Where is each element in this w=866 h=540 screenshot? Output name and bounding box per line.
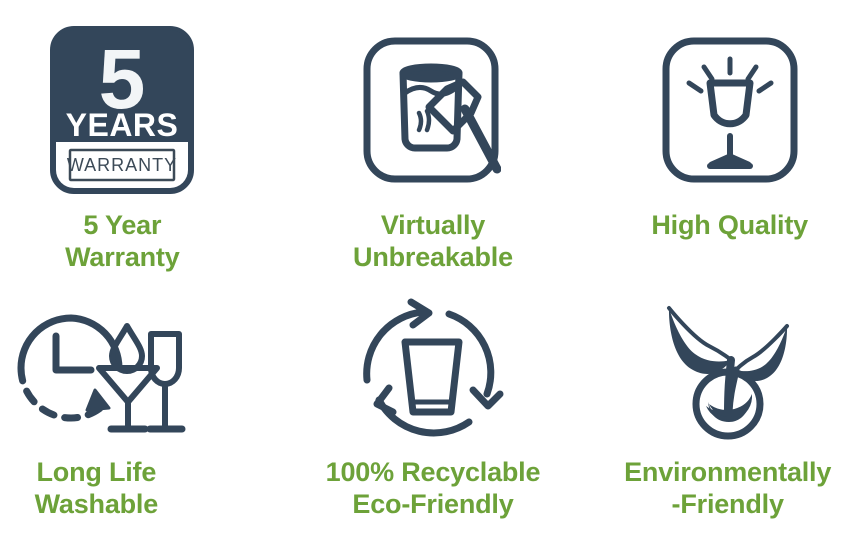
recycling-arrows-tumbler-icon: [357, 290, 507, 445]
feature-item-quality: High Quality: [577, 0, 866, 280]
feature-label-longlife: Long Life Washable: [35, 457, 158, 521]
feature-label-eco: Environmentally -Friendly: [624, 457, 831, 521]
five-year-warranty-badge-icon: 5 YEARS WARRANTY: [48, 20, 196, 200]
badge-years-text: YEARS: [66, 107, 179, 143]
feature-item-eco: Environmentally -Friendly: [577, 280, 866, 540]
feature-label-warranty: 5 Year Warranty: [65, 210, 179, 274]
clock-and-glassware-icon: [1, 290, 191, 445]
feature-item-warranty: 5 YEARS WARRANTY 5 Year Warranty: [0, 0, 289, 280]
feature-grid: 5 YEARS WARRANTY 5 Year Warranty: [0, 0, 866, 540]
feature-label-unbreakable: Virtually Unbreakable: [353, 210, 513, 274]
feature-item-recycle: 100% Recyclable Eco-Friendly: [289, 280, 578, 540]
badge-warranty-text: WARRANTY: [67, 155, 177, 175]
feature-label-quality: High Quality: [651, 210, 808, 242]
feature-label-recycle: 100% Recyclable Eco-Friendly: [326, 457, 541, 521]
hammer-hitting-glass-icon: [361, 20, 501, 200]
feature-item-longlife: Long Life Washable: [0, 280, 289, 540]
feature-item-unbreakable: Virtually Unbreakable: [289, 0, 578, 280]
sprouting-seed-leaves-icon: [653, 290, 803, 445]
sparkling-wine-glass-icon: [660, 20, 800, 200]
